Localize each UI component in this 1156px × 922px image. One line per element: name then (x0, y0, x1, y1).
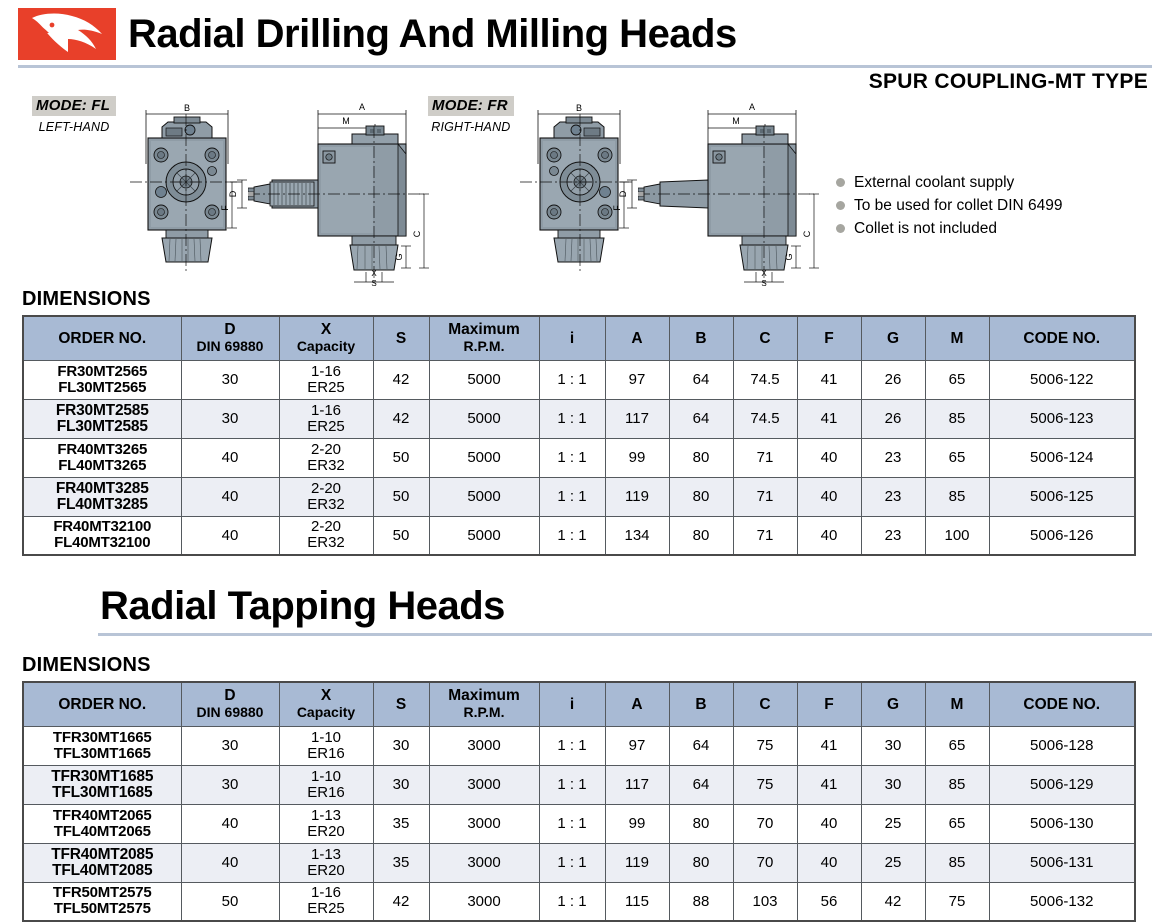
cell-d: 30 (181, 726, 279, 765)
cell-g: 23 (861, 438, 925, 477)
svg-text:D: D (618, 190, 628, 197)
table-row: FR30MT2585FL30MT2585 30 1-16ER25 42 5000… (23, 399, 1135, 438)
cell-s: 35 (373, 843, 429, 882)
cell-x-capacity: 1-16ER25 (279, 399, 373, 438)
drawing-fr-side-view: A M (638, 96, 830, 291)
cell-b: 80 (669, 477, 733, 516)
note-text: Collet is not included (854, 217, 997, 240)
cell-code-no: 5006-124 (989, 438, 1135, 477)
svg-text:A: A (359, 102, 365, 112)
bullet-icon (836, 178, 845, 187)
cell-order-no: TFR50MT2575TFL50MT2575 (23, 882, 181, 921)
product-diagram-area: MODE: FL LEFT-HAND B (0, 96, 1156, 288)
page-subtitle: SPUR COUPLING-MT TYPE (869, 70, 1148, 94)
col-max-rpm: MaximumR.P.M. (429, 682, 539, 726)
cell-order-no: FR40MT3285FL40MT3285 (23, 477, 181, 516)
cell-code-no: 5006-123 (989, 399, 1135, 438)
table-row: TFR30MT1665TFL30MT1665 30 1-10ER16 30 30… (23, 726, 1135, 765)
dimensions-label-1: DIMENSIONS (22, 288, 1156, 311)
cell-code-no: 5006-131 (989, 843, 1135, 882)
cell-b: 64 (669, 399, 733, 438)
col-x-capacity: XCapacity (279, 682, 373, 726)
cell-i: 1 : 1 (539, 399, 605, 438)
cell-x-capacity: 1-16ER25 (279, 360, 373, 399)
cell-code-no: 5006-125 (989, 477, 1135, 516)
cell-m: 75 (925, 882, 989, 921)
cell-x-capacity: 1-10ER16 (279, 765, 373, 804)
table-row: TFR40MT2085TFL40MT2085 40 1-13ER20 35 30… (23, 843, 1135, 882)
cell-d: 40 (181, 477, 279, 516)
cell-d: 40 (181, 438, 279, 477)
cell-f: 56 (797, 882, 861, 921)
cell-f: 40 (797, 477, 861, 516)
table-row: FR40MT3285FL40MT3285 40 2-20ER32 50 5000… (23, 477, 1135, 516)
svg-text:M: M (342, 116, 350, 126)
svg-text:S: S (371, 279, 376, 286)
svg-text:B: B (576, 103, 582, 113)
cell-b: 80 (669, 804, 733, 843)
col-b: B (669, 316, 733, 360)
cell-c: 103 (733, 882, 797, 921)
mode-fr-tag: MODE: FR (428, 96, 514, 116)
cell-g: 30 (861, 726, 925, 765)
col-d: DDIN 69880 (181, 682, 279, 726)
cell-rpm: 5000 (429, 360, 539, 399)
svg-text:S: S (761, 279, 766, 286)
cell-x-capacity: 2-20ER32 (279, 477, 373, 516)
mode-fl-tag: MODE: FL (32, 96, 116, 116)
table-row: FR30MT2565FL30MT2565 30 1-16ER25 42 5000… (23, 360, 1135, 399)
cell-x-capacity: 1-16ER25 (279, 882, 373, 921)
cell-order-no: TFR30MT1665TFL30MT1665 (23, 726, 181, 765)
cell-g: 26 (861, 360, 925, 399)
cell-m: 65 (925, 438, 989, 477)
cell-rpm: 3000 (429, 882, 539, 921)
cell-d: 30 (181, 765, 279, 804)
svg-text:G: G (784, 253, 794, 260)
cell-c: 70 (733, 804, 797, 843)
note-item: External coolant supply (836, 171, 1154, 194)
cell-s: 30 (373, 765, 429, 804)
cell-b: 64 (669, 360, 733, 399)
col-code-no: CODE NO. (989, 682, 1135, 726)
cell-s: 42 (373, 399, 429, 438)
cell-d: 40 (181, 843, 279, 882)
cell-d: 50 (181, 882, 279, 921)
svg-text:D: D (228, 190, 238, 197)
cell-order-no: TFR40MT2085TFL40MT2085 (23, 843, 181, 882)
cell-m: 85 (925, 765, 989, 804)
section-tapping-heads-header: Radial Tapping Heads (0, 586, 1156, 644)
cell-m: 100 (925, 516, 989, 555)
col-i: i (539, 316, 605, 360)
svg-text:A: A (749, 102, 755, 112)
cell-order-no: TFR30MT1685TFL30MT1685 (23, 765, 181, 804)
cell-x-capacity: 2-20ER32 (279, 516, 373, 555)
product-notes-list: External coolant supply To be used for c… (836, 171, 1154, 240)
cell-i: 1 : 1 (539, 516, 605, 555)
cell-code-no: 5006-128 (989, 726, 1135, 765)
cell-rpm: 3000 (429, 726, 539, 765)
cell-m: 85 (925, 843, 989, 882)
table-header-row: ORDER NO. DDIN 69880 XCapacity S Maximum… (23, 316, 1135, 360)
cell-m: 85 (925, 399, 989, 438)
cell-i: 1 : 1 (539, 438, 605, 477)
cell-rpm: 5000 (429, 477, 539, 516)
cell-c: 71 (733, 516, 797, 555)
section-drilling-milling: DIMENSIONS ORDER NO. DDIN 69880 XCapacit… (0, 288, 1156, 556)
cell-b: 64 (669, 726, 733, 765)
col-order-no: ORDER NO. (23, 682, 181, 726)
section-2-title: Radial Tapping Heads (100, 586, 1156, 626)
cell-c: 75 (733, 765, 797, 804)
section-tapping-heads: DIMENSIONS ORDER NO. DDIN 69880 XCapacit… (0, 654, 1156, 922)
note-text: External coolant supply (854, 171, 1014, 194)
cell-order-no: FR30MT2585FL30MT2585 (23, 399, 181, 438)
col-a: A (605, 682, 669, 726)
cell-d: 40 (181, 516, 279, 555)
cell-i: 1 : 1 (539, 843, 605, 882)
cell-rpm: 3000 (429, 843, 539, 882)
col-s: S (373, 316, 429, 360)
cell-x-capacity: 1-13ER20 (279, 843, 373, 882)
col-c: C (733, 316, 797, 360)
dimensions-table-1: ORDER NO. DDIN 69880 XCapacity S Maximum… (22, 315, 1136, 556)
cell-i: 1 : 1 (539, 477, 605, 516)
cell-rpm: 3000 (429, 804, 539, 843)
cell-g: 30 (861, 765, 925, 804)
table-body-1: FR30MT2565FL30MT2565 30 1-16ER25 42 5000… (23, 360, 1135, 555)
cell-g: 25 (861, 804, 925, 843)
cell-a: 97 (605, 360, 669, 399)
svg-text:C: C (802, 230, 812, 237)
cell-x-capacity: 1-10ER16 (279, 726, 373, 765)
svg-text:X: X (761, 269, 767, 278)
cell-order-no: FR30MT2565FL30MT2565 (23, 360, 181, 399)
cell-b: 64 (669, 765, 733, 804)
cell-f: 40 (797, 516, 861, 555)
cell-f: 41 (797, 765, 861, 804)
page-header: Radial Drilling And Milling Heads (0, 0, 1156, 68)
svg-text:C: C (412, 230, 422, 237)
cell-s: 50 (373, 516, 429, 555)
cell-i: 1 : 1 (539, 804, 605, 843)
cell-a: 99 (605, 804, 669, 843)
svg-text:B: B (184, 103, 190, 113)
cell-f: 41 (797, 726, 861, 765)
cell-c: 71 (733, 438, 797, 477)
col-f: F (797, 682, 861, 726)
cell-a: 97 (605, 726, 669, 765)
table-row: TFR30MT1685TFL30MT1685 30 1-10ER16 30 30… (23, 765, 1135, 804)
cell-code-no: 5006-132 (989, 882, 1135, 921)
cell-code-no: 5006-126 (989, 516, 1135, 555)
cell-m: 65 (925, 726, 989, 765)
svg-text:M: M (732, 116, 740, 126)
col-m: M (925, 316, 989, 360)
col-d: DDIN 69880 (181, 316, 279, 360)
mode-label-fr: MODE: FR RIGHT-HAND (428, 96, 514, 134)
table-row: TFR40MT2065TFL40MT2065 40 1-13ER20 35 30… (23, 804, 1135, 843)
bullet-icon (836, 201, 845, 210)
note-text: To be used for collet DIN 6499 (854, 194, 1063, 217)
col-f: F (797, 316, 861, 360)
bullet-icon (836, 224, 845, 233)
cell-g: 25 (861, 843, 925, 882)
dimensions-table-2: ORDER NO. DDIN 69880 XCapacity S Maximum… (22, 681, 1136, 922)
cell-code-no: 5006-130 (989, 804, 1135, 843)
cell-c: 74.5 (733, 399, 797, 438)
cell-a: 117 (605, 765, 669, 804)
cell-d: 40 (181, 804, 279, 843)
svg-text:X: X (371, 269, 377, 278)
cell-f: 40 (797, 843, 861, 882)
cell-rpm: 5000 (429, 399, 539, 438)
cell-d: 30 (181, 360, 279, 399)
cell-order-no: FR40MT32100FL40MT32100 (23, 516, 181, 555)
table-row: TFR50MT2575TFL50MT2575 50 1-16ER25 42 30… (23, 882, 1135, 921)
cell-f: 41 (797, 399, 861, 438)
cell-b: 88 (669, 882, 733, 921)
cell-m: 85 (925, 477, 989, 516)
svg-text:G: G (394, 253, 404, 260)
cell-s: 30 (373, 726, 429, 765)
cell-f: 41 (797, 360, 861, 399)
cell-code-no: 5006-122 (989, 360, 1135, 399)
cell-m: 65 (925, 804, 989, 843)
cell-c: 74.5 (733, 360, 797, 399)
cell-g: 26 (861, 399, 925, 438)
cell-rpm: 3000 (429, 765, 539, 804)
col-order-no: ORDER NO. (23, 316, 181, 360)
col-x-capacity: XCapacity (279, 316, 373, 360)
mode-fr-sub: RIGHT-HAND (428, 120, 514, 134)
cell-a: 119 (605, 843, 669, 882)
mode-fl-sub: LEFT-HAND (32, 120, 116, 134)
cell-i: 1 : 1 (539, 765, 605, 804)
cell-s: 50 (373, 477, 429, 516)
cell-rpm: 5000 (429, 438, 539, 477)
col-a: A (605, 316, 669, 360)
cell-s: 42 (373, 882, 429, 921)
cell-g: 23 (861, 477, 925, 516)
note-item: Collet is not included (836, 217, 1154, 240)
cell-i: 1 : 1 (539, 726, 605, 765)
dimension-d-fr: D (618, 174, 644, 219)
title-rule (18, 65, 1152, 68)
cell-a: 119 (605, 477, 669, 516)
col-c: C (733, 682, 797, 726)
eagle-head-logo (18, 8, 116, 60)
cell-b: 80 (669, 438, 733, 477)
cell-s: 35 (373, 804, 429, 843)
col-g: G (861, 316, 925, 360)
table-row: FR40MT32100FL40MT32100 40 2-20ER32 50 50… (23, 516, 1135, 555)
col-max-rpm: MaximumR.P.M. (429, 316, 539, 360)
drawing-fl-side-view: A M (248, 96, 440, 291)
page-title: Radial Drilling And Milling Heads (128, 14, 737, 54)
table-header-row: ORDER NO. DDIN 69880 XCapacity S Maximum… (23, 682, 1135, 726)
cell-f: 40 (797, 438, 861, 477)
col-m: M (925, 682, 989, 726)
cell-b: 80 (669, 843, 733, 882)
table-body-2: TFR30MT1665TFL30MT1665 30 1-10ER16 30 30… (23, 726, 1135, 921)
cell-rpm: 5000 (429, 516, 539, 555)
cell-g: 23 (861, 516, 925, 555)
col-b: B (669, 682, 733, 726)
cell-x-capacity: 1-13ER20 (279, 804, 373, 843)
mode-label-fl: MODE: FL LEFT-HAND (32, 96, 116, 134)
dimension-d-fl: D (228, 174, 254, 219)
cell-g: 42 (861, 882, 925, 921)
table-row: FR40MT3265FL40MT3265 40 2-20ER32 50 5000… (23, 438, 1135, 477)
cell-m: 65 (925, 360, 989, 399)
dimensions-label-2: DIMENSIONS (22, 654, 1156, 677)
cell-c: 75 (733, 726, 797, 765)
cell-a: 134 (605, 516, 669, 555)
cell-code-no: 5006-129 (989, 765, 1135, 804)
cell-a: 115 (605, 882, 669, 921)
cell-i: 1 : 1 (539, 882, 605, 921)
cell-order-no: FR40MT3265FL40MT3265 (23, 438, 181, 477)
cell-x-capacity: 2-20ER32 (279, 438, 373, 477)
cell-c: 71 (733, 477, 797, 516)
cell-a: 117 (605, 399, 669, 438)
cell-c: 70 (733, 843, 797, 882)
cell-i: 1 : 1 (539, 360, 605, 399)
cell-s: 42 (373, 360, 429, 399)
col-s: S (373, 682, 429, 726)
col-code-no: CODE NO. (989, 316, 1135, 360)
cell-d: 30 (181, 399, 279, 438)
note-item: To be used for collet DIN 6499 (836, 194, 1154, 217)
cell-a: 99 (605, 438, 669, 477)
section-2-rule (98, 633, 1152, 636)
cell-b: 80 (669, 516, 733, 555)
cell-f: 40 (797, 804, 861, 843)
cell-s: 50 (373, 438, 429, 477)
col-g: G (861, 682, 925, 726)
col-i: i (539, 682, 605, 726)
cell-order-no: TFR40MT2065TFL40MT2065 (23, 804, 181, 843)
